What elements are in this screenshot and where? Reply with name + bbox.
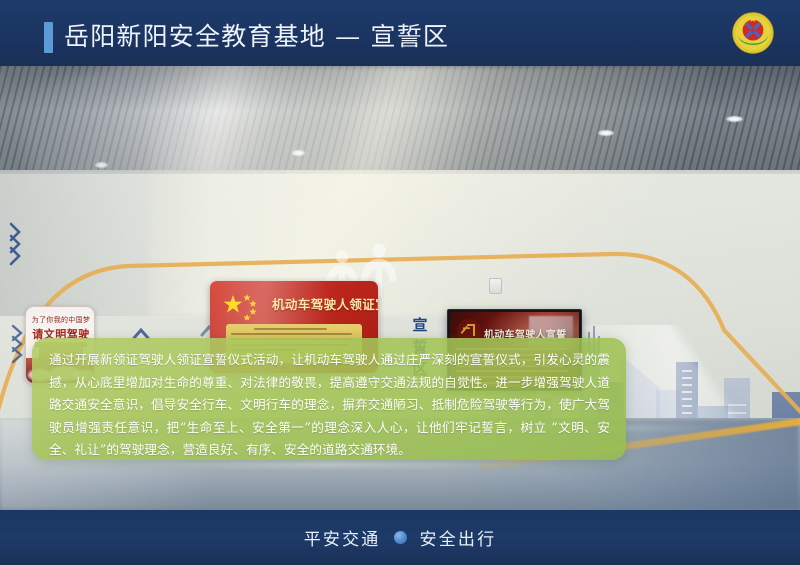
footer-bar: 平安交通 安全出行 xyxy=(0,510,800,565)
poster-red-title: 机动车驾驶人领证宣誓誓词 xyxy=(272,294,378,313)
footer-text-left: 平安交通 xyxy=(304,525,381,550)
wall-sensor-device xyxy=(489,278,502,294)
header-bar: 岳阳新阳安全教育基地 — 宣誓区 xyxy=(0,0,800,66)
chevron-arrows-left xyxy=(8,216,26,276)
footer-slogan: 平安交通 安全出行 xyxy=(304,525,497,550)
footer-dot-icon xyxy=(394,531,407,544)
footer-text-right: 安全出行 xyxy=(420,525,497,550)
china-flag-stars-icon xyxy=(223,292,269,320)
traffic-police-emblem-icon xyxy=(730,10,776,56)
page-root: 岳阳新阳安全教育基地 — 宣誓区 xyxy=(0,0,800,565)
description-card: 通过开展新领证驾驶人领证宣誓仪式活动，让机动车驾驶人通过庄严深刻的宣誓仪式，引发… xyxy=(32,338,626,460)
ceiling-downlight xyxy=(726,116,743,122)
description-text: 通过开展新领证驾驶人领证宣誓仪式活动，让机动车驾驶人通过庄严深刻的宣誓仪式，引发… xyxy=(49,349,610,462)
page-title: 岳阳新阳安全教育基地 — 宣誓区 xyxy=(64,19,449,55)
poster-left-line1: 为了你我的中国梦 xyxy=(26,315,95,325)
floor-light-streak xyxy=(120,462,540,467)
vertical-sign-char-1: 宣 xyxy=(409,314,431,336)
header-accent-bar xyxy=(44,22,53,53)
